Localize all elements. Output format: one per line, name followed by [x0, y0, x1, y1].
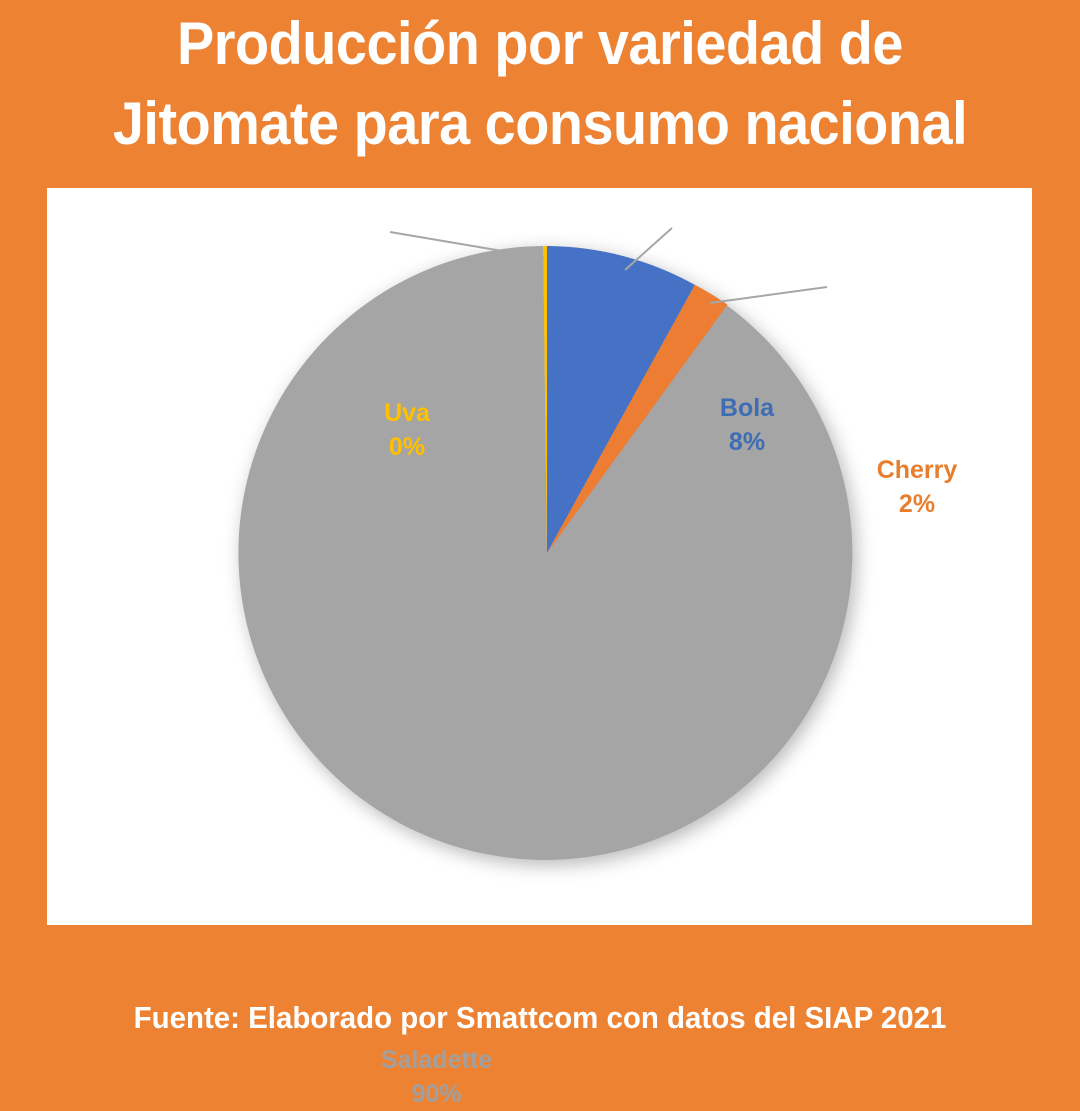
pie-slices	[238, 246, 852, 860]
title-line-2: Jitomate para consumo nacional	[38, 84, 1042, 164]
data-label-saladette-name: Saladette	[324, 1043, 549, 1077]
chart-panel: Uva 0% Bola 8% Cherry 2% Saladette 90%	[47, 188, 1032, 925]
leader-line-cherry	[710, 287, 827, 303]
title-line-1: Producción por variedad de	[38, 4, 1042, 84]
pie-chart	[47, 188, 1032, 925]
data-label-saladette: Saladette 90%	[324, 1043, 549, 1111]
source-footer-text: Fuente: Elaborado por Smattcom con datos…	[27, 998, 1053, 1038]
page-title: Producción por variedad de Jitomate para…	[0, 4, 1080, 164]
poster-root: Producción por variedad de Jitomate para…	[0, 0, 1080, 1080]
data-label-saladette-value: 90%	[324, 1077, 549, 1111]
leader-line-uva	[390, 232, 544, 258]
source-footer: Fuente: Elaborado por Smattcom con datos…	[0, 998, 1080, 1038]
leader-line-bola	[625, 228, 672, 270]
